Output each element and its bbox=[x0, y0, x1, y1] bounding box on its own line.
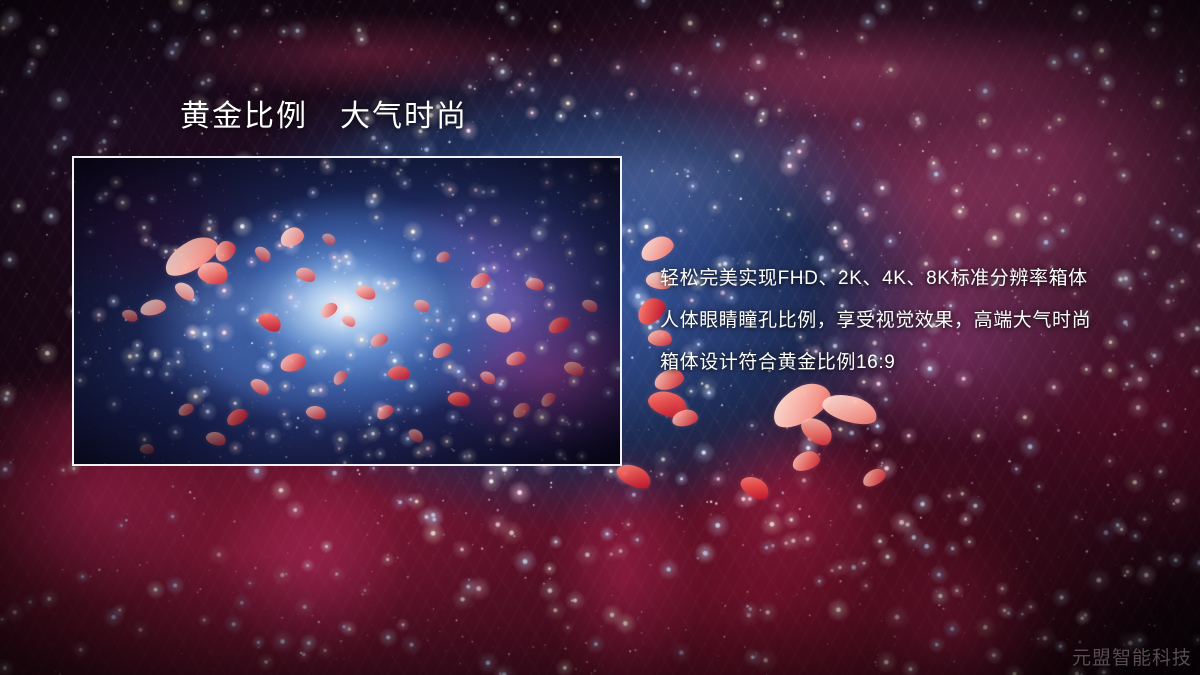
company-watermark: 元盟智能科技 bbox=[1072, 643, 1192, 670]
body-text-line-3: 箱体设计符合黄金比例16:9 bbox=[660, 342, 1180, 384]
presentation-slide: 黄金比例 大气时尚 轻松完美实现FHD、2K、4K、8K标准分辨率箱体 人体眼睛… bbox=[0, 0, 1200, 675]
framed-image-panel[interactable] bbox=[72, 156, 622, 466]
panel-vignette bbox=[74, 158, 620, 464]
body-text-line-1: 轻松完美实现FHD、2K、4K、8K标准分辨率箱体 bbox=[660, 258, 1180, 300]
slide-title: 黄金比例 大气时尚 bbox=[180, 102, 468, 132]
body-text-line-2: 人体眼睛瞳孔比例，享受视觉效果，高端大气时尚 bbox=[660, 300, 1180, 342]
body-text-block: 轻松完美实现FHD、2K、4K、8K标准分辨率箱体 人体眼睛瞳孔比例，享受视觉效… bbox=[660, 258, 1180, 384]
